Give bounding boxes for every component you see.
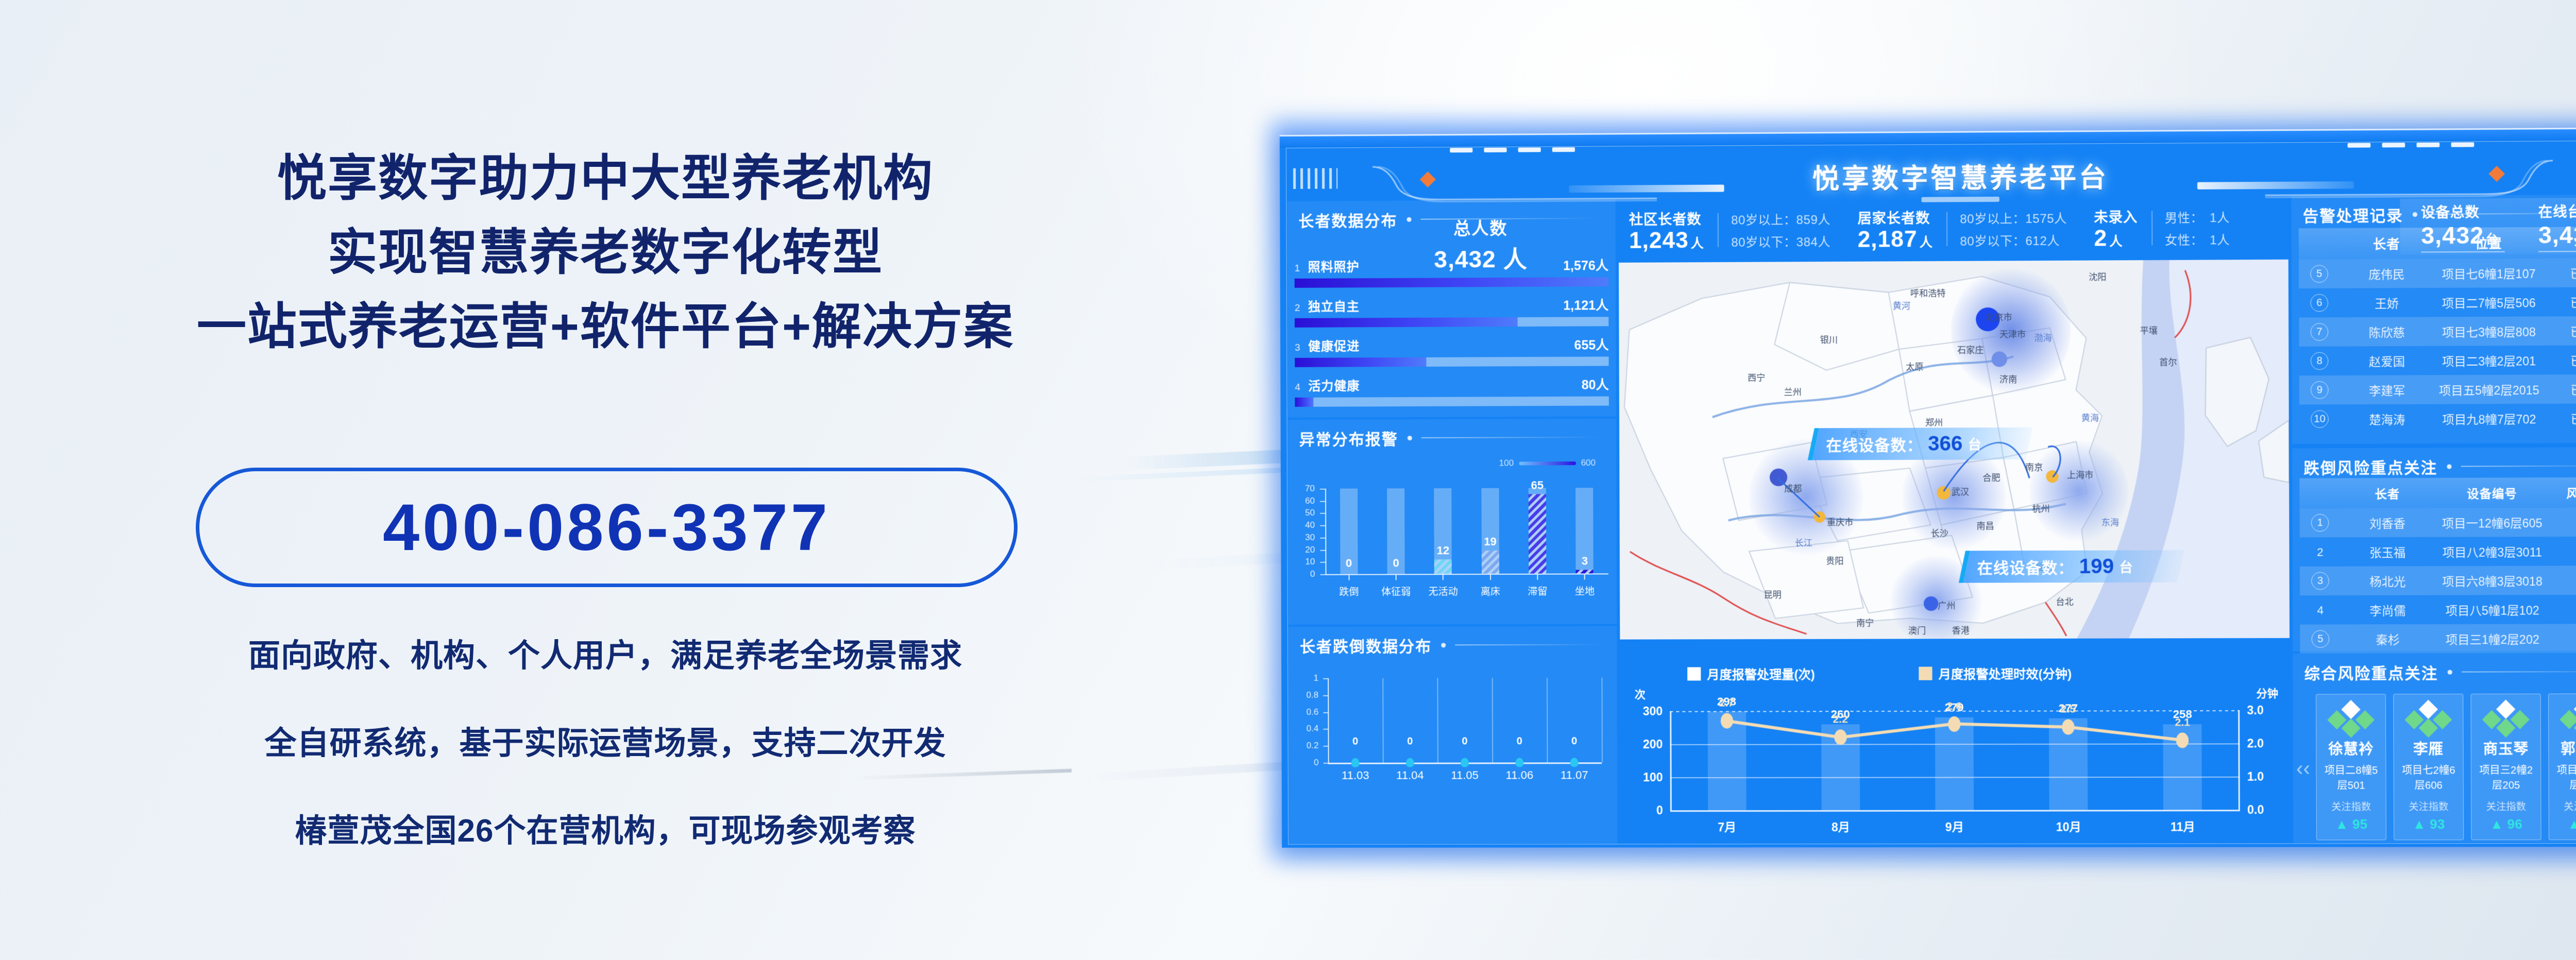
table-row[interactable]: 9 李建军 项目五5幢2层2015 已处理 xyxy=(2299,374,2576,405)
data-point-label: 0 xyxy=(1352,736,1358,748)
x-tick-label: 跌倒 xyxy=(1339,585,1359,598)
headline-line-2: 实现智慧养老数字化转型 xyxy=(0,212,1211,284)
list-item: 3 健康促进 655人 xyxy=(1295,335,1609,367)
bar-value-label: 12 xyxy=(1437,544,1450,557)
data-point xyxy=(1570,758,1579,767)
y-tick-label: 60 xyxy=(1292,495,1315,506)
row-device: 项目三1幢2层202 xyxy=(2435,630,2550,648)
col-index xyxy=(2299,484,2340,502)
y-tick-mark xyxy=(1323,729,1328,730)
list-item: 4 活力健康 80人 xyxy=(1295,374,1609,406)
y-tick-mark xyxy=(1323,695,1328,696)
gridline xyxy=(1547,678,1548,762)
x-tick-label: 10月 xyxy=(2056,817,2081,835)
header-dash-seg xyxy=(1552,147,1575,152)
card-title-text: 长者跌倒数据分布 xyxy=(1300,633,1432,657)
map-label-river: 长江 xyxy=(1795,536,1812,548)
fall-risk-table: 长者 设备编号 风险指数 1 刘香香 项目一12幢6层605 67 2 张玉福 … xyxy=(2299,477,2576,654)
stat-unit: 人 xyxy=(2109,234,2123,249)
card-title: 异常分布报警 xyxy=(1288,419,1617,450)
x-tick-mark xyxy=(1584,574,1585,579)
map-label: 郑州 xyxy=(1925,415,1943,428)
y-tick-mark xyxy=(1320,489,1325,490)
x-tick-label: 体征弱 xyxy=(1381,584,1411,598)
alarm-records-table: 长者 位置 状态 5 庞伟民 项目七6幢1层107 已处理 6 王娇 项目二7幢… xyxy=(2299,227,2576,434)
right-column: 告警处理记录 长者 位置 状态 5 庞伟民 项目七6幢1层107 xyxy=(2291,194,2576,843)
y-tick-label: 50 xyxy=(1292,508,1315,518)
row-status: 已处理 xyxy=(2544,322,2576,340)
middle-column: 沈阳 呼和浩特 北京市 天津市 平壤 首尔 石家庄 太原 济南 银川 西宁 兰州… xyxy=(1619,260,2290,844)
focus-name: 李雁 xyxy=(2397,738,2460,759)
badge-label: 在线设备数： xyxy=(1977,555,2074,578)
row-risk: 88 xyxy=(2550,544,2576,558)
title-rule xyxy=(2427,213,2576,215)
card-monthly-alarm-combo: 月度报警处理量(次) 月度报警处理时效(分钟) 次分钟01002003000.0… xyxy=(1620,661,2290,843)
row-status: 已处理 xyxy=(2544,351,2576,369)
title-dot-icon xyxy=(2448,670,2452,674)
y-axis-unit: 次 xyxy=(1635,687,1646,702)
row-elder: 刘香香 xyxy=(2341,513,2435,532)
anomaly-bar-chart: 0102030405060700跌倒0体征弱12无活动19离床65滞留3坐地 xyxy=(1288,472,1617,606)
row-risk: 67 xyxy=(2550,515,2576,529)
row-index: 5 xyxy=(2299,265,2340,283)
data-point-label: 0 xyxy=(1407,736,1413,748)
bar-value-label: 0 xyxy=(1346,557,1352,570)
diamond-cluster-icon xyxy=(2475,702,2537,735)
gridline xyxy=(1492,678,1494,762)
card-title-text: 异常分布报警 xyxy=(1299,426,1398,450)
x-tick-label: 7月 xyxy=(1718,817,1736,835)
y-tick-label: 20 xyxy=(1292,544,1315,555)
title-dot-icon xyxy=(1441,643,1446,647)
bar-fill xyxy=(1295,357,1427,367)
map-label-sea: 渤海 xyxy=(2034,331,2052,344)
table-header: 长者 位置 状态 xyxy=(2299,227,2576,260)
subtitle-line-3: 椿萱茂全国26个在营机构，可现场参观考察 xyxy=(0,804,1211,851)
map-label: 南京 xyxy=(2025,460,2043,473)
row-risk: 78 xyxy=(2550,631,2576,646)
table-row[interactable]: 7 陈欣慈 项目七3幢8层808 已处理 xyxy=(2299,316,2576,347)
map-badge-online-devices-2[interactable]: 在线设备数： 199 台 xyxy=(1959,550,2184,582)
row-status: 已处理 xyxy=(2544,293,2576,311)
focus-index-value: ▲ 95 xyxy=(2320,816,2383,832)
focus-name: 徐慧衿 xyxy=(2319,738,2382,759)
y-axis xyxy=(1328,678,1329,763)
card-anomaly-alarm: 异常分布报警 100 600 0102030405060700跌倒0体征弱12无… xyxy=(1288,419,1617,625)
category-name: 活力健康 xyxy=(1308,375,1360,393)
bar-value-label: 3 xyxy=(1582,554,1588,568)
x-tick-label: 11.05 xyxy=(1451,769,1479,782)
data-point-label: 2.2 xyxy=(1833,713,1848,726)
data-point xyxy=(1351,758,1360,767)
col-elder: 长者 xyxy=(2340,484,2434,502)
data-point xyxy=(1461,758,1469,767)
stat-value: 2,187 xyxy=(1857,227,1917,252)
focus-location: 项目七2幢6层606 xyxy=(2397,762,2460,792)
map-label: 兰州 xyxy=(1784,385,1802,398)
focus-name: 商玉琴 xyxy=(2475,738,2537,759)
phone-cta-pill[interactable]: 400-086-3377 xyxy=(196,468,1018,587)
headline-line-3: 一站式养老运营+软件平台+解决方案 xyxy=(0,286,1211,358)
overall-risk-cards: 徐慧衿 项目二8幢5层501 关注指数 ▲ 95 李雁 项目七2 xyxy=(2316,693,2576,840)
row-elder: 张玉福 xyxy=(2341,543,2435,561)
x-tick-label: 离床 xyxy=(1481,584,1500,598)
row-location: 项目九8幢7层702 xyxy=(2434,409,2545,427)
stat-sub-line: 80岁以上：1575人 xyxy=(1960,208,2067,227)
stat-label: 社区长者数 xyxy=(1629,208,1704,229)
y-tick-label: 30 xyxy=(1292,533,1315,543)
data-point xyxy=(1834,730,1846,745)
x-tick-label: 11月 xyxy=(2171,817,2195,834)
x-tick-label: 11.03 xyxy=(1342,769,1369,782)
card-title-text: 跌倒风险重点关注 xyxy=(2303,455,2437,478)
focus-index-label: 关注指数 xyxy=(2320,799,2383,813)
y2-tick-label: 0.0 xyxy=(2247,803,2282,817)
data-point xyxy=(1948,716,1960,731)
card-title: 告警处理记录 xyxy=(2291,194,2576,226)
data-point xyxy=(1720,713,1733,729)
title-rule xyxy=(2461,465,2576,467)
map-label: 北京市 xyxy=(1986,310,2012,323)
fall-line-chart: 00.20.40.60.81011.03011.04011.05011.0601… xyxy=(1289,670,1617,794)
x-tick-label: 无活动 xyxy=(1429,584,1458,598)
row-location: 项目七3幢8层808 xyxy=(2434,322,2544,340)
y-tick-label: 0.8 xyxy=(1292,690,1318,700)
map-label: 呼和浩特 xyxy=(1910,286,1946,299)
map-label: 重庆市 xyxy=(1827,515,1853,528)
carousel-prev-icon[interactable]: ‹‹ xyxy=(2296,757,2310,780)
focus-index-label: 关注指数 xyxy=(2397,799,2460,813)
card-title: 跌倒风险重点关注 xyxy=(2292,447,2576,478)
risk-focus-card[interactable]: 郭建国 项目三3幢5层502 关注指数 ▲ 89 xyxy=(2548,693,2576,840)
bar-track xyxy=(1295,277,1608,288)
col-elder: 长者 xyxy=(2340,234,2434,253)
data-point xyxy=(1515,758,1523,767)
category-count: 655人 xyxy=(1574,335,1608,353)
subtitle-line-1: 面向政府、机构、个人用户，满足养老全场景需求 xyxy=(0,629,1211,676)
y-tick-label: 70 xyxy=(1292,484,1315,494)
bar-fill xyxy=(1434,559,1452,574)
left-column: 长者数据分布 总人数 3,432 人 1 照料照护 1,576人 xyxy=(1287,200,1617,844)
map-label: 南宁 xyxy=(1856,615,1874,628)
diamond-cluster-icon xyxy=(2552,702,2576,735)
header-dash-seg xyxy=(1450,148,1472,152)
card-title: 长者跌倒数据分布 xyxy=(1289,626,1617,657)
y2-tick-label: 2.0 xyxy=(2247,736,2281,750)
map-label-sea: 东海 xyxy=(2102,515,2119,528)
table-row[interactable]: 10 楚海涛 项目九8幢7层702 已处理 xyxy=(2299,403,2576,434)
risk-focus-card[interactable]: 李雁 项目七2幢6层606 关注指数 ▲ 93 xyxy=(2393,694,2464,840)
gridline xyxy=(1601,678,1603,762)
marketing-panel: 悦享数字助力中大型养老机构 实现智慧养老数字化转型 一站式养老运营+软件平台+解… xyxy=(0,0,1211,960)
row-elder: 楚海涛 xyxy=(2340,410,2434,428)
stat-label: 未录入 xyxy=(2094,205,2138,226)
table-row[interactable]: 5 秦杉 项目三1幢2层202 78 xyxy=(2300,624,2576,654)
y-axis xyxy=(1670,711,1672,811)
card-title: 综合风险重点关注 xyxy=(2293,653,2576,684)
legend-label: 月度报警处理量(次) xyxy=(1707,664,1815,683)
header-dash-seg xyxy=(1518,147,1541,152)
badge-unit: 台 xyxy=(1968,434,1981,453)
combo-legend: 月度报警处理量(次) 月度报警处理时效(分钟) xyxy=(1687,664,2072,683)
y-tick-label: 10 xyxy=(1292,557,1315,567)
focus-index-value: ▲ 89 xyxy=(2552,816,2576,832)
row-status: 已处理 xyxy=(2544,264,2576,282)
x-tick-label: 11.06 xyxy=(1506,768,1534,782)
stat-label: 居家长者数 xyxy=(1857,207,1933,227)
map-label: 首尔 xyxy=(2159,355,2177,368)
row-index: 5 xyxy=(2300,630,2341,648)
stat-sub-line: 80岁以下：384人 xyxy=(1731,232,1831,250)
focus-location: 项目二8幢5层501 xyxy=(2320,762,2383,792)
data-point-label: 2.5 xyxy=(2061,703,2076,715)
col-status: 状态 xyxy=(2544,233,2576,252)
row-elder: 赵爱国 xyxy=(2340,352,2434,370)
focus-index-value: ▲ 96 xyxy=(2475,816,2537,832)
y-tick-mark xyxy=(1320,562,1325,563)
y-tick-mark xyxy=(1320,550,1325,551)
legend-label: 月度报警处理时效(分钟) xyxy=(1939,664,2072,682)
bar-fill xyxy=(1295,317,1517,328)
stat-value: 2 xyxy=(2094,226,2107,251)
legend-item-volume[interactable]: 月度报警处理量(次) xyxy=(1687,664,1815,683)
y-tick-label: 200 xyxy=(1629,738,1663,751)
row-index: 7 xyxy=(2299,323,2340,341)
list-item: 2 独立自主 1,121人 xyxy=(1295,295,1609,328)
y-tick-label: 0.4 xyxy=(1292,724,1318,734)
legend-swatch-icon xyxy=(1919,666,1932,680)
table-row[interactable]: 6 王娇 项目二7幢5层506 已处理 xyxy=(2299,287,2576,317)
map-label: 合肥 xyxy=(1982,470,2000,483)
stat-sub-line: 80岁以上：859人 xyxy=(1731,210,1831,228)
focus-index-label: 关注指数 xyxy=(2475,799,2537,813)
col-index xyxy=(2299,234,2340,253)
map-label: 太原 xyxy=(1906,359,1923,372)
subtitle-line-2: 全自研系统，基于实际运营场景，支持二次开发 xyxy=(0,717,1211,763)
title-dot-icon xyxy=(2413,212,2417,216)
legend-max: 600 xyxy=(1581,458,1596,468)
map-badge-online-devices-1[interactable]: 在线设备数： 366 台 xyxy=(1808,427,2033,460)
data-point-label: 2.6 xyxy=(1946,700,1962,712)
title-dot-icon xyxy=(2447,464,2451,469)
table-row[interactable]: 5 庞伟民 项目七6幢1层107 已处理 xyxy=(2299,258,2576,288)
row-elder: 杨北光 xyxy=(2341,572,2435,590)
focus-location: 项目三2幢2层205 xyxy=(2475,762,2537,792)
stat-home: 居家长者数 2,187人 80岁以上：1575人 80岁以下：612人 xyxy=(1844,200,2080,258)
x-tick-mark xyxy=(1443,575,1444,580)
x-tick-label: 滞留 xyxy=(1528,584,1547,598)
row-status: 已处理 xyxy=(2544,409,2576,427)
badge-value: 366 xyxy=(1928,432,1962,455)
row-index: 6 xyxy=(2299,294,2340,312)
header-dash-seg xyxy=(1484,148,1506,152)
row-risk: 52 xyxy=(2550,573,2576,588)
table-row[interactable]: 4 李尚儒 项目八5幢1层102 76 xyxy=(2300,595,2576,625)
y-tick-label: 0 xyxy=(1292,758,1319,768)
combo-plot-area: 次分钟01002003000.01.02.03.02987月2608月2799月… xyxy=(1620,682,2291,843)
map-label: 长沙 xyxy=(1931,526,1948,539)
data-point xyxy=(1406,758,1414,767)
data-point xyxy=(2062,719,2074,735)
table-row[interactable]: 8 赵爱国 项目二3幢2层201 已处理 xyxy=(2299,345,2576,375)
x-tick-label: 8月 xyxy=(1832,817,1850,835)
map-label: 台北 xyxy=(2056,594,2073,607)
row-elder: 王娇 xyxy=(2340,294,2434,312)
header-dash-seg xyxy=(2382,143,2405,147)
y-tick-label: 300 xyxy=(1629,705,1663,718)
dashboard-title: 悦享数字智慧养老平台 xyxy=(1280,153,2576,199)
y-tick-label: 0 xyxy=(1292,569,1315,579)
list-item: 1 照料照护 1,576人 xyxy=(1295,255,1609,288)
x-axis xyxy=(1670,810,2240,812)
rank: 4 xyxy=(1295,382,1308,393)
map-label: 上海市 xyxy=(2067,468,2094,481)
y-tick-label: 0.6 xyxy=(1292,707,1318,717)
y-tick-mark xyxy=(1320,513,1325,514)
bar-fill xyxy=(1576,570,1594,573)
bar-track xyxy=(1295,356,1608,367)
y-tick-mark xyxy=(1320,501,1325,502)
data-point-label: 0 xyxy=(1517,735,1522,747)
y-tick-mark xyxy=(1320,538,1325,539)
china-map[interactable]: 沈阳 呼和浩特 北京市 天津市 平壤 首尔 石家庄 太原 济南 银川 西宁 兰州… xyxy=(1619,260,2290,640)
row-status: 已处理 xyxy=(2544,380,2576,398)
table-row[interactable]: 2 张玉福 项目八2幢3层3011 88 xyxy=(2300,537,2576,567)
title-rule xyxy=(2462,671,2576,673)
gridline xyxy=(1437,678,1438,762)
data-point-label: 0 xyxy=(1462,735,1467,747)
header-dash-seg xyxy=(2451,142,2475,147)
y-tick-mark xyxy=(1320,525,1325,526)
focus-location: 项目三3幢5层502 xyxy=(2552,762,2576,792)
y-tick-label: 100 xyxy=(1629,770,1663,784)
map-label: 银川 xyxy=(1820,332,1838,345)
row-index: 10 xyxy=(2299,410,2340,428)
map-label: 杭州 xyxy=(2032,501,2049,514)
bar-track xyxy=(1295,397,1608,407)
row-risk: 76 xyxy=(2550,602,2576,616)
rank: 2 xyxy=(1295,303,1308,314)
row-elder: 秦杉 xyxy=(2341,630,2435,648)
stat-unregistered: 未录入 2人 男性： 1人 女性： 1人 xyxy=(2080,199,2243,256)
card-overall-risk: 综合风险重点关注 ‹‹ ›› 徐慧衿 项目二8 xyxy=(2293,653,2576,843)
col-device: 设备编号 xyxy=(2434,484,2550,502)
title-rule xyxy=(1421,437,1601,438)
y-tick-label: 0.2 xyxy=(1292,741,1319,751)
row-device: 项目八2幢3层3011 xyxy=(2434,542,2550,560)
legend-item-latency[interactable]: 月度报警处理时效(分钟) xyxy=(1919,664,2072,682)
map-label: 昆明 xyxy=(1764,588,1782,601)
distribution-list: 1 照料照护 1,576人 2 独立自主 1,121人 xyxy=(1295,255,1609,416)
data-point-label: 0 xyxy=(1571,735,1577,747)
rank: 3 xyxy=(1295,342,1308,354)
bar-value-label: 19 xyxy=(1484,535,1497,548)
bar-value-label: 65 xyxy=(1531,478,1544,492)
table-row[interactable]: 3 杨北光 项目六8幢3层3018 52 xyxy=(2300,565,2576,595)
headline-line-1: 悦享数字助力中大型养老机构 xyxy=(0,138,1211,210)
row-index: 8 xyxy=(2299,352,2340,370)
row-location: 项目七6幢1层107 xyxy=(2434,264,2544,282)
row-index: 3 xyxy=(2300,572,2341,590)
y-tick-label: 1 xyxy=(1292,673,1318,683)
card-fall-distribution: 长者跌倒数据分布 00.20.40.60.81011.03011.04011.0… xyxy=(1289,626,1618,844)
y-tick-mark xyxy=(1323,678,1328,679)
phone-number[interactable]: 400-086-3377 xyxy=(199,471,1014,584)
y2-tick-label: 1.0 xyxy=(2247,770,2282,784)
x-tick-label: 11.04 xyxy=(1396,769,1424,782)
stat-sub-line: 80岁以下：612人 xyxy=(1960,231,2067,249)
map-label: 济南 xyxy=(1999,372,2017,385)
x-tick-mark xyxy=(1396,575,1397,580)
x-tick-label: 11.07 xyxy=(1561,768,1588,782)
rank: 1 xyxy=(1295,263,1308,275)
row-location: 项目二7幢5层506 xyxy=(2434,293,2544,311)
title-rule xyxy=(1455,644,1601,646)
y-tick-mark xyxy=(1320,574,1326,575)
map-label: 澳门 xyxy=(1908,623,1926,636)
badge-value: 199 xyxy=(2079,555,2114,578)
y2-axis xyxy=(2238,710,2240,810)
risk-focus-card[interactable]: 徐慧衿 项目二8幢5层501 关注指数 ▲ 95 xyxy=(2316,694,2386,840)
row-index: 9 xyxy=(2299,381,2340,399)
category-count: 1,121人 xyxy=(1563,295,1608,314)
row-index: 2 xyxy=(2300,545,2341,559)
map-label: 武汉 xyxy=(1952,485,1969,498)
row-index: 1 xyxy=(2300,514,2341,532)
x-tick-mark xyxy=(1490,575,1491,580)
total-label: 总人数 xyxy=(1395,214,1566,240)
focus-name: 郭建国 xyxy=(2552,738,2576,759)
bar-fill xyxy=(1295,277,1608,288)
table-row[interactable]: 1 刘香香 项目一12幢6层605 67 xyxy=(2299,507,2576,537)
header-dash-seg xyxy=(2417,143,2440,147)
row-elder: 李尚儒 xyxy=(2341,601,2435,619)
category-name: 照料照护 xyxy=(1308,256,1360,275)
map-label: 西宁 xyxy=(1748,370,1765,383)
data-point-label: 2.7 xyxy=(1719,697,1734,710)
row-elder: 陈欣慈 xyxy=(2340,322,2434,340)
category-name: 独立自主 xyxy=(1308,296,1360,314)
row-elder: 李建军 xyxy=(2340,381,2434,399)
title-dot-icon xyxy=(1408,436,1412,440)
bar-track xyxy=(1295,317,1608,328)
bar-value-label: 0 xyxy=(1393,556,1399,570)
col-location: 位置 xyxy=(2434,233,2544,252)
card-title-text: 告警处理记录 xyxy=(2303,203,2403,226)
row-device: 项目八5幢1层102 xyxy=(2435,601,2550,619)
y-tick-mark xyxy=(1323,712,1328,713)
x-tick-label: 坐地 xyxy=(1575,584,1595,597)
map-label-sea: 黄海 xyxy=(2081,410,2099,423)
card-title-text: 长者数据分布 xyxy=(1298,208,1397,231)
data-point xyxy=(2176,732,2189,748)
map-label: 天津市 xyxy=(1999,327,2026,340)
category-name: 健康促进 xyxy=(1308,336,1360,354)
table-header: 长者 设备编号 风险指数 xyxy=(2299,477,2576,508)
legend-gradient xyxy=(1519,461,1575,465)
data-point-label: 2.1 xyxy=(2175,716,2190,729)
risk-focus-card[interactable]: 商玉琴 项目三2幢2层205 关注指数 ▲ 96 xyxy=(2470,694,2541,841)
x-tick-mark xyxy=(1348,575,1349,580)
stat-value: 1,243 xyxy=(1629,228,1689,253)
map-label-river: 黄河 xyxy=(1893,299,1910,312)
card-title-text: 综合风险重点关注 xyxy=(2304,661,2438,684)
card-fall-risk: 跌倒风险重点关注 长者 设备编号 风险指数 1 刘香香 项目一12幢6层605 xyxy=(2292,447,2576,652)
legend-swatch-icon xyxy=(1687,667,1701,680)
focus-index-value: ▲ 93 xyxy=(2397,816,2460,832)
map-label: 广州 xyxy=(1938,598,1955,611)
stat-unit: 人 xyxy=(1920,235,1933,250)
